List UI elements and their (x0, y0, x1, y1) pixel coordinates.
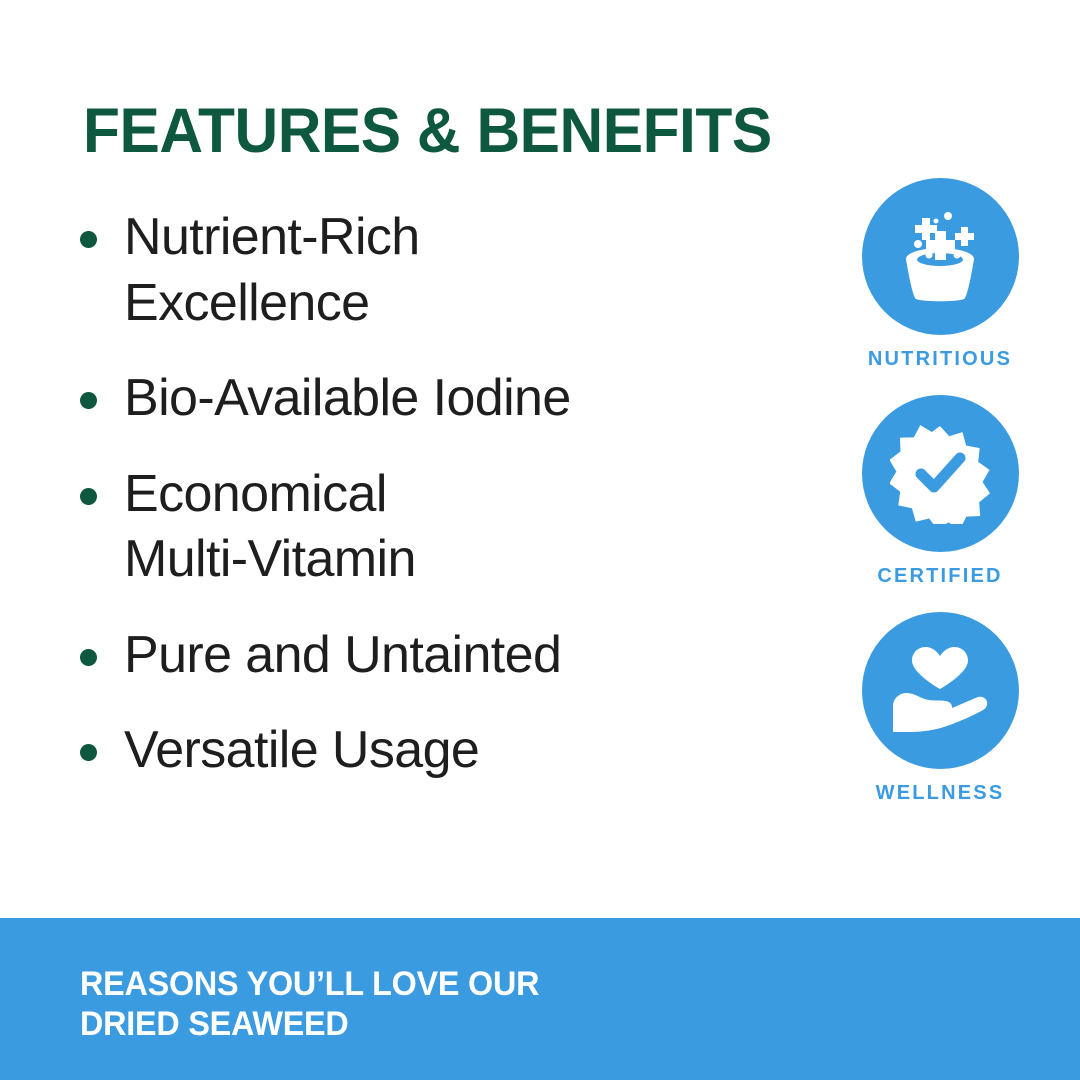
badge-circle (862, 395, 1019, 552)
badge-nutritious: NUTRITIOUS (820, 178, 1060, 371)
bullet-dot-icon (80, 392, 97, 409)
list-item: Nutrient-Rich Excellence (80, 205, 760, 336)
bullet-dot-icon (80, 744, 97, 761)
bullet-dot-icon (80, 488, 97, 505)
badge-circle (862, 178, 1019, 335)
badge-certified: CERTIFIED (820, 395, 1060, 588)
badge-circle (862, 612, 1019, 769)
features-list: Nutrient-Rich Excellence Bio-Available I… (80, 205, 760, 784)
banner-headline: REASONS YOU’LL LOVE OUR DRIED SEAWEED (80, 964, 539, 1045)
bottom-banner: REASONS YOU’LL LOVE OUR DRIED SEAWEED (0, 918, 1080, 1080)
feature-label: Versatile Usage (124, 718, 479, 784)
list-item: Pure and Untainted (80, 623, 760, 689)
bullet-dot-icon (80, 231, 97, 248)
rosette-check-icon (890, 424, 990, 524)
feature-label: Economical Multi-Vitamin (124, 462, 416, 593)
list-item: Versatile Usage (80, 718, 760, 784)
page-title: FEATURES & BENEFITS (83, 100, 772, 163)
feature-label: Bio-Available Iodine (124, 366, 571, 432)
bullet-dot-icon (80, 649, 97, 666)
pet-bowl-sparkle-icon (892, 211, 988, 303)
hand-heart-icon (890, 646, 990, 736)
list-item: Economical Multi-Vitamin (80, 462, 760, 593)
feature-label: Pure and Untainted (124, 623, 561, 689)
badge-label: NUTRITIOUS (820, 348, 1060, 371)
badge-wellness: WELLNESS (820, 612, 1060, 805)
list-item: Bio-Available Iodine (80, 366, 760, 432)
badge-label: WELLNESS (820, 782, 1060, 805)
badge-column: NUTRITIOUS CERTIFIED (820, 178, 1060, 805)
feature-label: Nutrient-Rich Excellence (124, 205, 420, 336)
infographic-canvas: FEATURES & BENEFITS Nutrient-Rich Excell… (0, 0, 1080, 1080)
badge-label: CERTIFIED (820, 565, 1060, 588)
